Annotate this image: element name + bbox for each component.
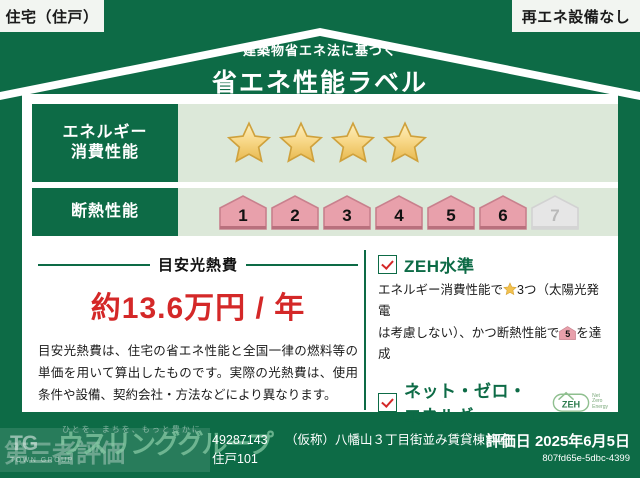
footer-unit: 住戸101	[212, 452, 258, 466]
utility-cost-note: 目安光熱費は、住宅の省エネ性能と全国一律の燃料等の単価を用いて算出したものです。…	[38, 341, 358, 407]
footer-eval-date-value: 2025年6月5日	[535, 433, 630, 450]
house-icon-inline: 5	[559, 326, 576, 340]
energy-performance-label-line1: エネルギー	[62, 123, 147, 143]
footer-property-name: （仮称）八幡山３丁目街並み賃貸棟計画	[285, 433, 510, 447]
insulation-level-chip: 5	[426, 193, 476, 231]
label-subtitle: 建築物省エネ法に基づく	[0, 40, 640, 59]
utility-cost-column: 目安光熱費 約13.6万円 / 年 目安光熱費は、住宅の省エネ性能と全国一律の燃…	[32, 250, 364, 410]
check-icon-zeh-standard	[378, 255, 397, 274]
energy-performance-label: エネルギー 消費性能	[32, 104, 178, 182]
net-zero-heading: ネット・ゼロ・エネルギー ZEH Net Zero Energy	[378, 377, 608, 427]
energy-performance-label-line2: 消費性能	[71, 143, 139, 163]
heading-rule-right	[246, 264, 358, 266]
insulation-level-number: 6	[498, 206, 507, 231]
footer-property-id: 49287143	[212, 433, 268, 447]
insulation-level-number: 7	[550, 206, 559, 231]
footer-property-info: 49287143 （仮称）八幡山３丁目街並み賃貸棟計画 住戸101	[212, 431, 510, 470]
check-icon-net-zero	[378, 393, 397, 412]
insulation-level-number: 3	[342, 206, 351, 231]
svg-text:ZEH: ZEH	[562, 400, 580, 410]
star-icon-filled	[330, 121, 376, 165]
insulation-level-number: 5	[446, 206, 455, 231]
footer-watermark: 第三者評価 ひとを、まちを、もっと豊かに ウスリンググループ TG TOWN G…	[0, 422, 210, 478]
label-card: エネルギー 消費性能 断熱性能 1234567 目安光熱費 約13.6万円 / …	[22, 94, 618, 412]
insulation-performance-label-text: 断熱性能	[71, 202, 139, 222]
zeh-standard-body-part3: は考慮しない）、かつ断熱性能で	[378, 326, 559, 340]
insulation-performance-row: 断熱性能 1234567	[32, 188, 618, 236]
town-group-logo-main: TG	[10, 432, 37, 455]
insulation-level-chip: 4	[374, 193, 424, 231]
insulation-level-chip: 2	[270, 193, 320, 231]
insulation-level-chip: 6	[478, 193, 528, 231]
zeh-badge-sub3: Energy	[592, 404, 608, 410]
town-group-logo: TG TOWN GROUP	[10, 432, 74, 464]
zeh-logo-badge: ZEH Net Zero Energy	[552, 390, 608, 414]
insulation-level-scale: 1234567	[178, 188, 618, 236]
star-icon-filled	[382, 121, 428, 165]
energy-performance-row: エネルギー 消費性能	[32, 104, 618, 182]
house-icon-inline-level: 5	[559, 329, 576, 340]
energy-performance-stars	[178, 104, 618, 182]
footer-eval-id: 807fd65e-5dbc-4399	[486, 453, 630, 464]
badge-renewable-equipment: 再エネ設備なし	[512, 0, 640, 32]
zeh-badge-subtext: Net Zero Energy	[592, 394, 608, 411]
utility-cost-heading: 目安光熱費	[38, 254, 358, 275]
net-zero-title: ネット・ゼロ・エネルギー	[404, 377, 542, 427]
zeh-standard-heading: ZEH水準	[378, 252, 608, 277]
zeh-standard-body: エネルギー消費性能で3つ（太陽光発電 は考慮しない）、かつ断熱性能で5を達成	[378, 280, 608, 365]
badge-renewable-equipment-label: 再エネ設備なし	[522, 6, 631, 27]
label-title-block: 建築物省エネ法に基づく 省エネ性能ラベル	[0, 40, 640, 99]
star-icon-inline	[503, 282, 517, 296]
footer-evaluation-info: 評価日 2025年6月5日 807fd65e-5dbc-4399	[486, 430, 630, 464]
zeh-standard-title: ZEH水準	[404, 252, 475, 277]
town-group-logo-sub: TOWN GROUP	[10, 457, 74, 464]
zeh-column: ZEH水準 エネルギー消費性能で3つ（太陽光発電 は考慮しない）、かつ断熱性能で…	[364, 250, 608, 410]
utility-cost-heading-text: 目安光熱費	[158, 254, 238, 275]
insulation-performance-label: 断熱性能	[32, 188, 178, 236]
footer-bar: 第三者評価 ひとを、まちを、もっと豊かに ウスリンググループ TG TOWN G…	[0, 422, 640, 478]
insulation-level-number: 1	[238, 206, 247, 231]
badge-building-type: 住宅（住戸）	[0, 0, 104, 32]
star-icon-filled	[278, 121, 324, 165]
badge-building-type-label: 住宅（住戸）	[5, 6, 98, 27]
insulation-level-chip: 7	[530, 193, 580, 231]
footer-eval-date-label: 評価日	[486, 433, 531, 450]
zeh-standard-body-part1: エネルギー消費性能で	[378, 283, 503, 297]
footer-eval-date-row: 評価日 2025年6月5日	[486, 430, 630, 451]
utility-cost-amount: 約13.6万円 / 年	[38, 283, 358, 327]
zeh-badge-icon: ZEH	[552, 390, 590, 414]
insulation-level-chip: 1	[218, 193, 268, 231]
insulation-level-number: 2	[290, 206, 299, 231]
heading-rule-left	[38, 264, 150, 266]
insulation-level-number: 4	[394, 206, 403, 231]
insulation-level-chip: 3	[322, 193, 372, 231]
detail-columns: 目安光熱費 約13.6万円 / 年 目安光熱費は、住宅の省エネ性能と全国一律の燃…	[32, 250, 608, 410]
star-icon-filled	[226, 121, 272, 165]
